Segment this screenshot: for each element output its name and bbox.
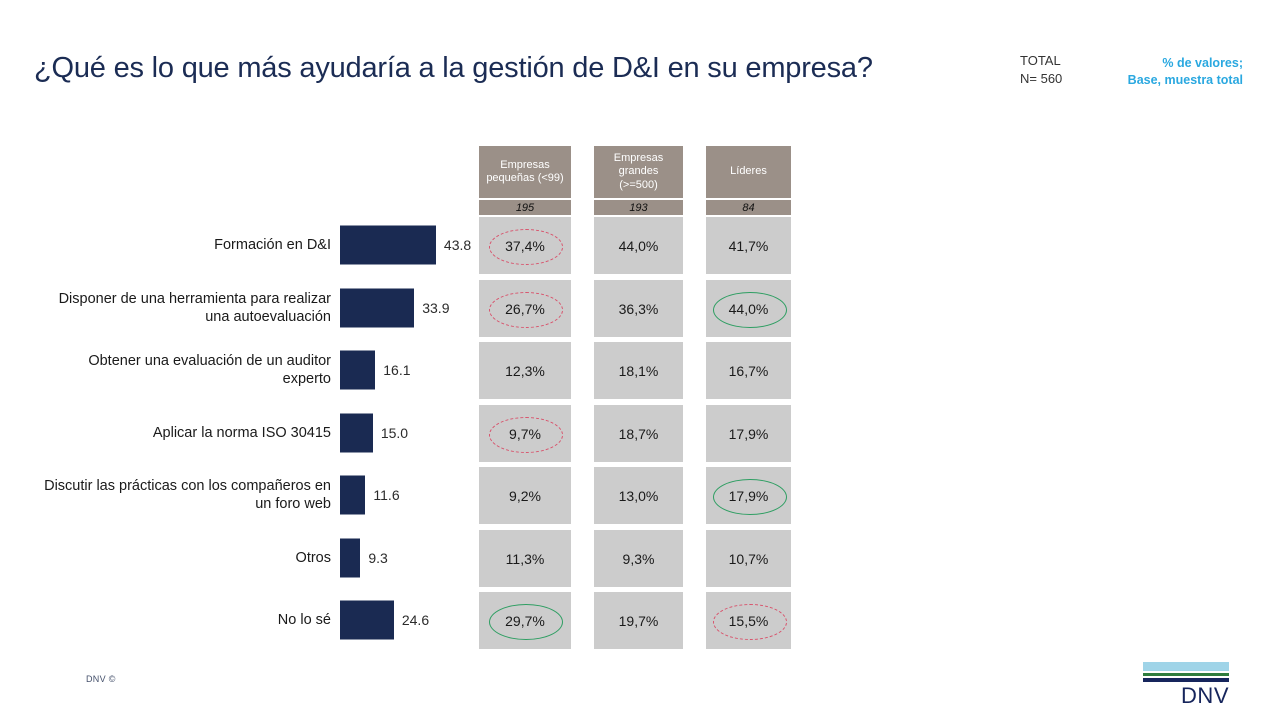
column-base-count-2: 193	[594, 200, 683, 215]
data-cell-value: 18,1%	[619, 363, 659, 379]
bar-value-label: 11.6	[373, 487, 399, 503]
data-cell: 36,3%	[594, 280, 683, 337]
column-header-1: Empresaspequeñas (<99)	[479, 146, 571, 198]
column-header-2: Empresasgrandes (>=500)	[594, 146, 683, 198]
data-cell: 18,1%	[594, 342, 683, 399]
data-cell: 17,9%	[706, 467, 791, 524]
column-header-label-line2: pequeñas (<99)	[482, 172, 567, 186]
logo-bar-lightblue	[1143, 662, 1229, 671]
data-cell: 11,3%	[479, 530, 571, 587]
bar-value-label: 24.6	[402, 612, 429, 628]
data-cell: 12,3%	[479, 342, 571, 399]
footer-copyright: DNV ©	[86, 674, 116, 684]
data-cell-value: 41,7%	[729, 238, 769, 254]
data-cell: 17,9%	[706, 405, 791, 462]
bar	[340, 226, 436, 265]
data-cell: 44,0%	[706, 280, 791, 337]
logo-wordmark: DNV	[1143, 684, 1229, 708]
data-cell-value: 44,0%	[619, 238, 659, 254]
row-label: Obtener una evaluación de un auditor exp…	[41, 352, 331, 388]
data-cell-value: 37,4%	[505, 238, 545, 254]
bar-value-label: 15.0	[381, 425, 408, 441]
data-cell-value: 15,5%	[729, 613, 769, 629]
data-cell: 16,7%	[706, 342, 791, 399]
column-header-3: Líderes	[706, 146, 791, 198]
column-base-count-1: 195	[479, 200, 571, 215]
bar	[340, 351, 375, 390]
logo-bar-navy	[1143, 678, 1229, 682]
data-cell-value: 19,7%	[619, 613, 659, 629]
data-cell: 44,0%	[594, 217, 683, 274]
data-cell-value: 18,7%	[619, 426, 659, 442]
data-cell: 9,2%	[479, 467, 571, 524]
data-cell-value: 11,3%	[506, 551, 545, 567]
data-cell: 10,7%	[706, 530, 791, 587]
dnv-logo: DNV	[1143, 662, 1229, 708]
data-cell-value: 16,7%	[729, 363, 769, 379]
data-cell: 9,7%	[479, 405, 571, 462]
data-cell: 29,7%	[479, 592, 571, 649]
row-label: No lo sé	[41, 611, 331, 629]
data-cell-value: 13,0%	[619, 488, 659, 504]
column-base-count-3: 84	[706, 200, 791, 215]
bar	[340, 289, 414, 328]
bar	[340, 414, 373, 453]
data-cell-value: 9,3%	[623, 551, 655, 567]
data-cell: 13,0%	[594, 467, 683, 524]
data-cell: 19,7%	[594, 592, 683, 649]
data-cell-value: 29,7%	[505, 613, 545, 629]
bar-value-label: 9.3	[368, 550, 387, 566]
bar	[340, 539, 360, 578]
data-cell-value: 9,7%	[509, 426, 541, 442]
column-header-label-line1: Empresas	[482, 159, 567, 173]
bar-value-label: 33.9	[422, 300, 449, 316]
bar	[340, 601, 394, 640]
data-cell: 37,4%	[479, 217, 571, 274]
data-cell: 15,5%	[706, 592, 791, 649]
row-label: Aplicar la norma ISO 30415	[41, 424, 331, 442]
data-cell-value: 17,9%	[729, 426, 769, 442]
row-label: Otros	[41, 549, 331, 567]
data-cell: 9,3%	[594, 530, 683, 587]
data-cell: 26,7%	[479, 280, 571, 337]
data-cell-value: 10,7%	[729, 551, 769, 567]
column-header-label-line1: Líderes	[726, 165, 771, 179]
row-label: Formación en D&I	[41, 236, 331, 254]
column-header-label-line1: Empresas	[594, 152, 683, 166]
row-label: Disponer de una herramienta para realiza…	[41, 290, 331, 326]
bar	[340, 476, 365, 515]
bar-value-label: 16.1	[383, 362, 410, 378]
bar-value-label: 43.8	[444, 237, 471, 253]
data-cell-value: 12,3%	[505, 363, 545, 379]
bar-chart-with-subgroup-table: Empresaspequeñas (<99)195Empresasgrandes…	[0, 0, 1280, 720]
column-header-label-line2: grandes (>=500)	[594, 165, 683, 192]
data-cell: 41,7%	[706, 217, 791, 274]
data-cell-value: 36,3%	[619, 301, 659, 317]
data-cell: 18,7%	[594, 405, 683, 462]
data-cell-value: 9,2%	[509, 488, 541, 504]
data-cell-value: 44,0%	[729, 301, 769, 317]
row-label: Discutir las prácticas con los compañero…	[41, 477, 331, 513]
data-cell-value: 26,7%	[505, 301, 545, 317]
data-cell-value: 17,9%	[729, 488, 769, 504]
